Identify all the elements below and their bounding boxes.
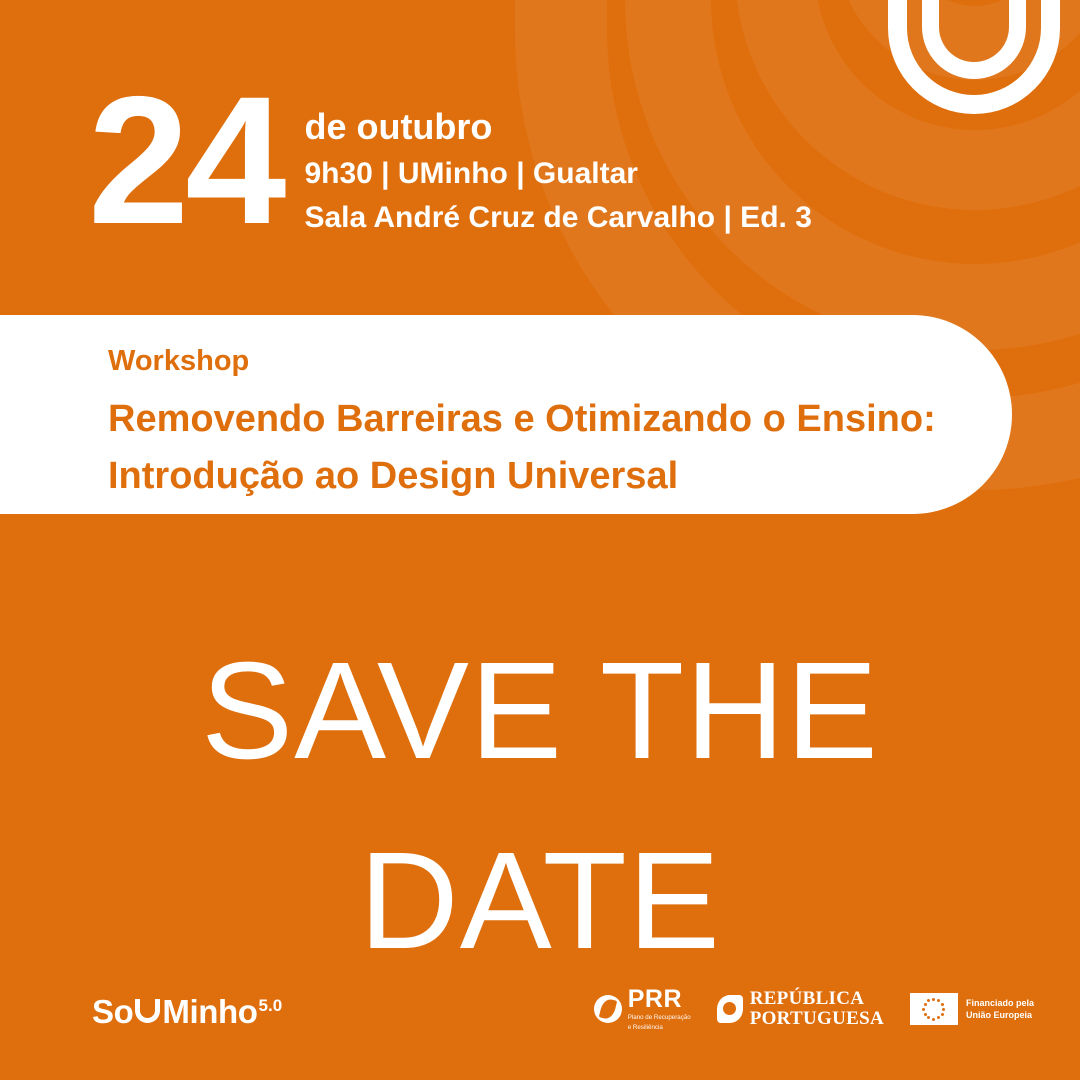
souminho-suffix: Minho xyxy=(162,995,257,1028)
workshop-card-content: Workshop Removendo Barreiras e Otimizand… xyxy=(108,343,922,506)
uminho-u-logo-icon xyxy=(888,0,1060,114)
hero-line-1: SAVE THE xyxy=(0,616,1080,806)
republica-portuguesa-emblem-icon xyxy=(717,995,743,1023)
workshop-title-line-1: Removendo Barreiras e Otimizando o Ensin… xyxy=(108,391,922,449)
eu-star-icon xyxy=(924,1013,927,1016)
workshop-card: Workshop Removendo Barreiras e Otimizand… xyxy=(0,315,1012,514)
prr-acronym: PRR xyxy=(628,987,691,1012)
souminho-prefix: So xyxy=(92,995,133,1028)
event-time-place: 9h30 | UMinho | Gualtar xyxy=(304,152,811,196)
workshop-kicker: Workshop xyxy=(108,343,922,381)
eu-star-icon xyxy=(932,998,935,1001)
eu-star-icon xyxy=(941,1013,944,1016)
eu-star-icon xyxy=(927,1016,930,1019)
souminho-logo: So Minho 5.0 xyxy=(92,995,282,1028)
uniao-europeia-line-2: União Europeia xyxy=(966,1009,1034,1022)
eu-star-icon xyxy=(942,1008,945,1011)
republica-portuguesa-text-block: REPÚBLICA PORTUGUESA xyxy=(750,989,884,1030)
eu-star-icon xyxy=(927,999,930,1002)
prr-text-block: PRR Plano de Recuperação e Resiliência xyxy=(628,987,691,1032)
hero-line-2: DATE xyxy=(0,806,1080,996)
eu-flag-icon xyxy=(910,993,958,1025)
eu-star-icon xyxy=(922,1008,925,1011)
event-day-number: 24 xyxy=(88,82,282,239)
eu-star-icon xyxy=(932,1018,935,1021)
workshop-title-line-2: Introdução ao Design Universal xyxy=(108,448,922,506)
eu-star-icon xyxy=(937,1016,940,1019)
republica-portuguesa-line-2: PORTUGUESA xyxy=(750,1009,884,1030)
prr-subtitle-line-2: e Resiliência xyxy=(628,1024,691,1032)
uniao-europeia-text-block: Financiado pela União Europeia xyxy=(966,997,1034,1023)
save-the-date-poster: 24 de outubro 9h30 | UMinho | Gualtar Sa… xyxy=(0,0,1080,1080)
souminho-u-glyph-icon xyxy=(135,999,160,1023)
republica-portuguesa-logo: REPÚBLICA PORTUGUESA xyxy=(717,989,884,1030)
eu-star-icon xyxy=(937,999,940,1002)
save-the-date-heading: SAVE THE DATE xyxy=(0,616,1080,997)
souminho-version: 5.0 xyxy=(259,996,283,1016)
prr-subtitle-line-1: Plano de Recuperação xyxy=(628,1014,691,1022)
eu-star-icon xyxy=(941,1003,944,1006)
eu-star-icon xyxy=(924,1003,927,1006)
event-date-header: 24 de outubro 9h30 | UMinho | Gualtar Sa… xyxy=(88,78,812,240)
funding-logos: PRR Plano de Recuperação e Resiliência R… xyxy=(594,987,1034,1032)
event-month: de outubro xyxy=(304,102,811,152)
uniao-europeia-logo: Financiado pela União Europeia xyxy=(910,993,1034,1025)
prr-globe-icon xyxy=(594,995,622,1023)
event-room: Sala André Cruz de Carvalho | Ed. 3 xyxy=(304,196,811,240)
event-details: de outubro 9h30 | UMinho | Gualtar Sala … xyxy=(304,102,811,240)
prr-logo: PRR Plano de Recuperação e Resiliência xyxy=(594,987,691,1032)
republica-portuguesa-line-1: REPÚBLICA xyxy=(750,989,884,1010)
uniao-europeia-line-1: Financiado pela xyxy=(966,997,1034,1010)
